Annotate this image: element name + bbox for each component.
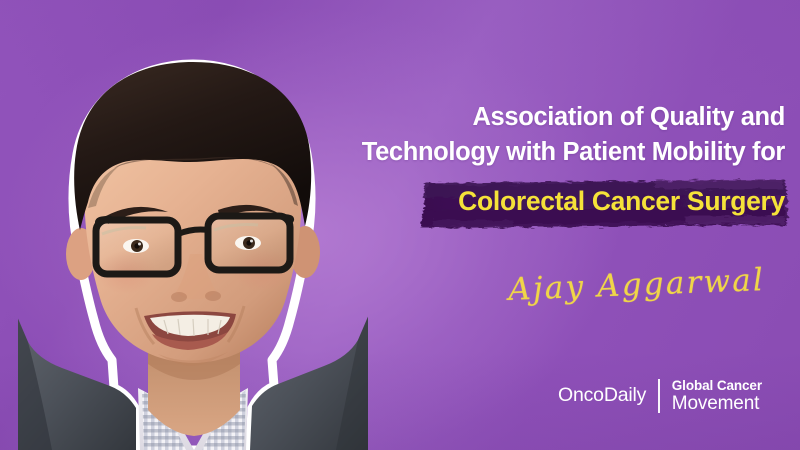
highlighted-title-line: Colorectal Cancer Surgery bbox=[355, 176, 795, 230]
oncodaily-logo[interactable]: OncoDaily Global Cancer Movement bbox=[558, 376, 762, 416]
logo-divider bbox=[658, 379, 660, 413]
title-block: Association of Quality and Technology wi… bbox=[355, 100, 785, 170]
highlighted-title-text: Colorectal Cancer Surgery bbox=[355, 176, 785, 230]
title-line-2: Technology with Patient Mobility for bbox=[355, 135, 785, 170]
title-line-1: Association of Quality and bbox=[355, 100, 785, 135]
logo-tagline: Global Cancer Movement bbox=[660, 379, 762, 414]
speaker-portrait bbox=[18, 58, 368, 450]
logo-tagline-line-2: Movement bbox=[672, 394, 762, 413]
logo-brand-name: OncoDaily bbox=[558, 386, 658, 406]
logo-tagline-line-1: Global Cancer bbox=[672, 379, 762, 393]
slide-canvas: Association of Quality and Technology wi… bbox=[0, 0, 800, 450]
